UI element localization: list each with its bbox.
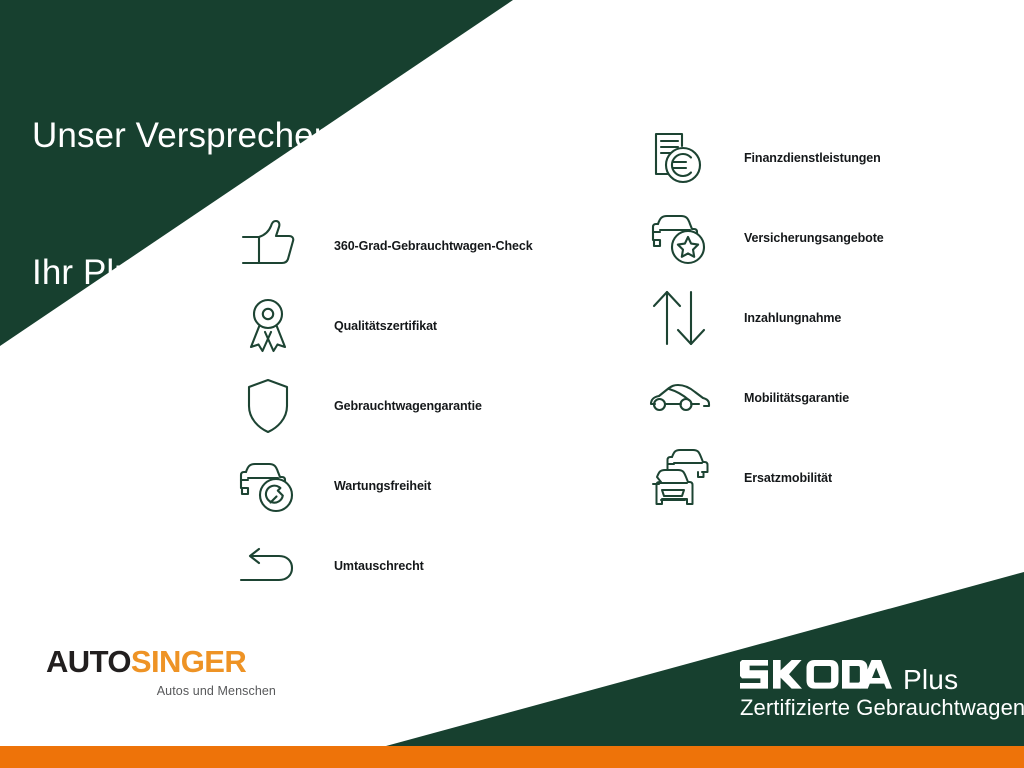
autosinger-wordmark-singer: SINGER — [131, 644, 246, 679]
promo-banner: Unser Versprechen. Ihr Plus. 360-Grad-Ge… — [0, 0, 1024, 768]
autosinger-wordmark-auto: AUTO — [46, 644, 131, 679]
headline-line-1: Unser Versprechen. — [32, 113, 343, 159]
shield-icon — [236, 374, 300, 438]
feature-label: Ersatzmobilität — [744, 471, 832, 485]
car-star-icon — [648, 206, 712, 270]
feature-item-quality-certificate: Qualitätszertifikat — [236, 286, 533, 366]
feature-label: Qualitätszertifikat — [334, 319, 437, 333]
feature-label: Gebrauchtwagengarantie — [334, 399, 482, 413]
two-cars-icon — [648, 446, 712, 510]
return-arrow-icon — [236, 534, 300, 598]
feature-label: Inzahlungnahme — [744, 311, 841, 325]
feature-list-left: 360-Grad-Gebrauchtwagen-Check Qualitätsz… — [236, 206, 533, 606]
feature-label: Wartungsfreiheit — [334, 479, 431, 493]
feature-label: Finanzdienstleistungen — [744, 151, 881, 165]
feature-item-360-check: 360-Grad-Gebrauchtwagen-Check — [236, 206, 533, 286]
car-wrench-icon — [236, 454, 300, 518]
autosinger-logo: AUTOSINGER Autos und Menschen — [46, 646, 276, 698]
award-rosette-icon — [236, 294, 300, 358]
skoda-wordmark-row: Plus — [740, 660, 1024, 692]
arrows-up-down-icon — [648, 286, 712, 350]
feature-label: Umtauschrecht — [334, 559, 424, 573]
autosinger-tagline: Autos und Menschen — [46, 684, 276, 698]
feature-item-maintenance: Wartungsfreiheit — [236, 446, 533, 526]
feature-label: Mobilitätsgarantie — [744, 391, 849, 405]
car-side-icon — [648, 366, 712, 430]
skoda-subtitle: Zertifizierte Gebrauchtwagen — [740, 696, 1024, 720]
feature-label: 360-Grad-Gebrauchtwagen-Check — [334, 239, 533, 253]
thumbs-up-icon — [236, 214, 300, 278]
feature-item-warranty: Gebrauchtwagengarantie — [236, 366, 533, 446]
orange-footer-bar — [0, 746, 1024, 768]
autosinger-wordmark: AUTOSINGER — [46, 646, 276, 677]
feature-label: Versicherungsangebote — [744, 231, 884, 245]
skoda-plus-label: Plus — [903, 666, 958, 694]
feature-item-insurance: Versicherungsangebote — [648, 198, 884, 278]
feature-item-replacement-mobility: Ersatzmobilität — [648, 438, 884, 518]
feature-item-return-right: Umtauschrecht — [236, 526, 533, 606]
feature-item-trade-in: Inzahlungnahme — [648, 278, 884, 358]
skoda-wordmark-icon — [740, 660, 892, 689]
skoda-plus-logo: Plus Zertifizierte Gebrauchtwagen — [740, 660, 1024, 720]
feature-item-mobility-guarantee: Mobilitätsgarantie — [648, 358, 884, 438]
document-euro-icon — [648, 126, 712, 190]
feature-list-right: Finanzdienstleistungen Versicherungsange… — [648, 118, 884, 518]
feature-item-financial-services: Finanzdienstleistungen — [648, 118, 884, 198]
